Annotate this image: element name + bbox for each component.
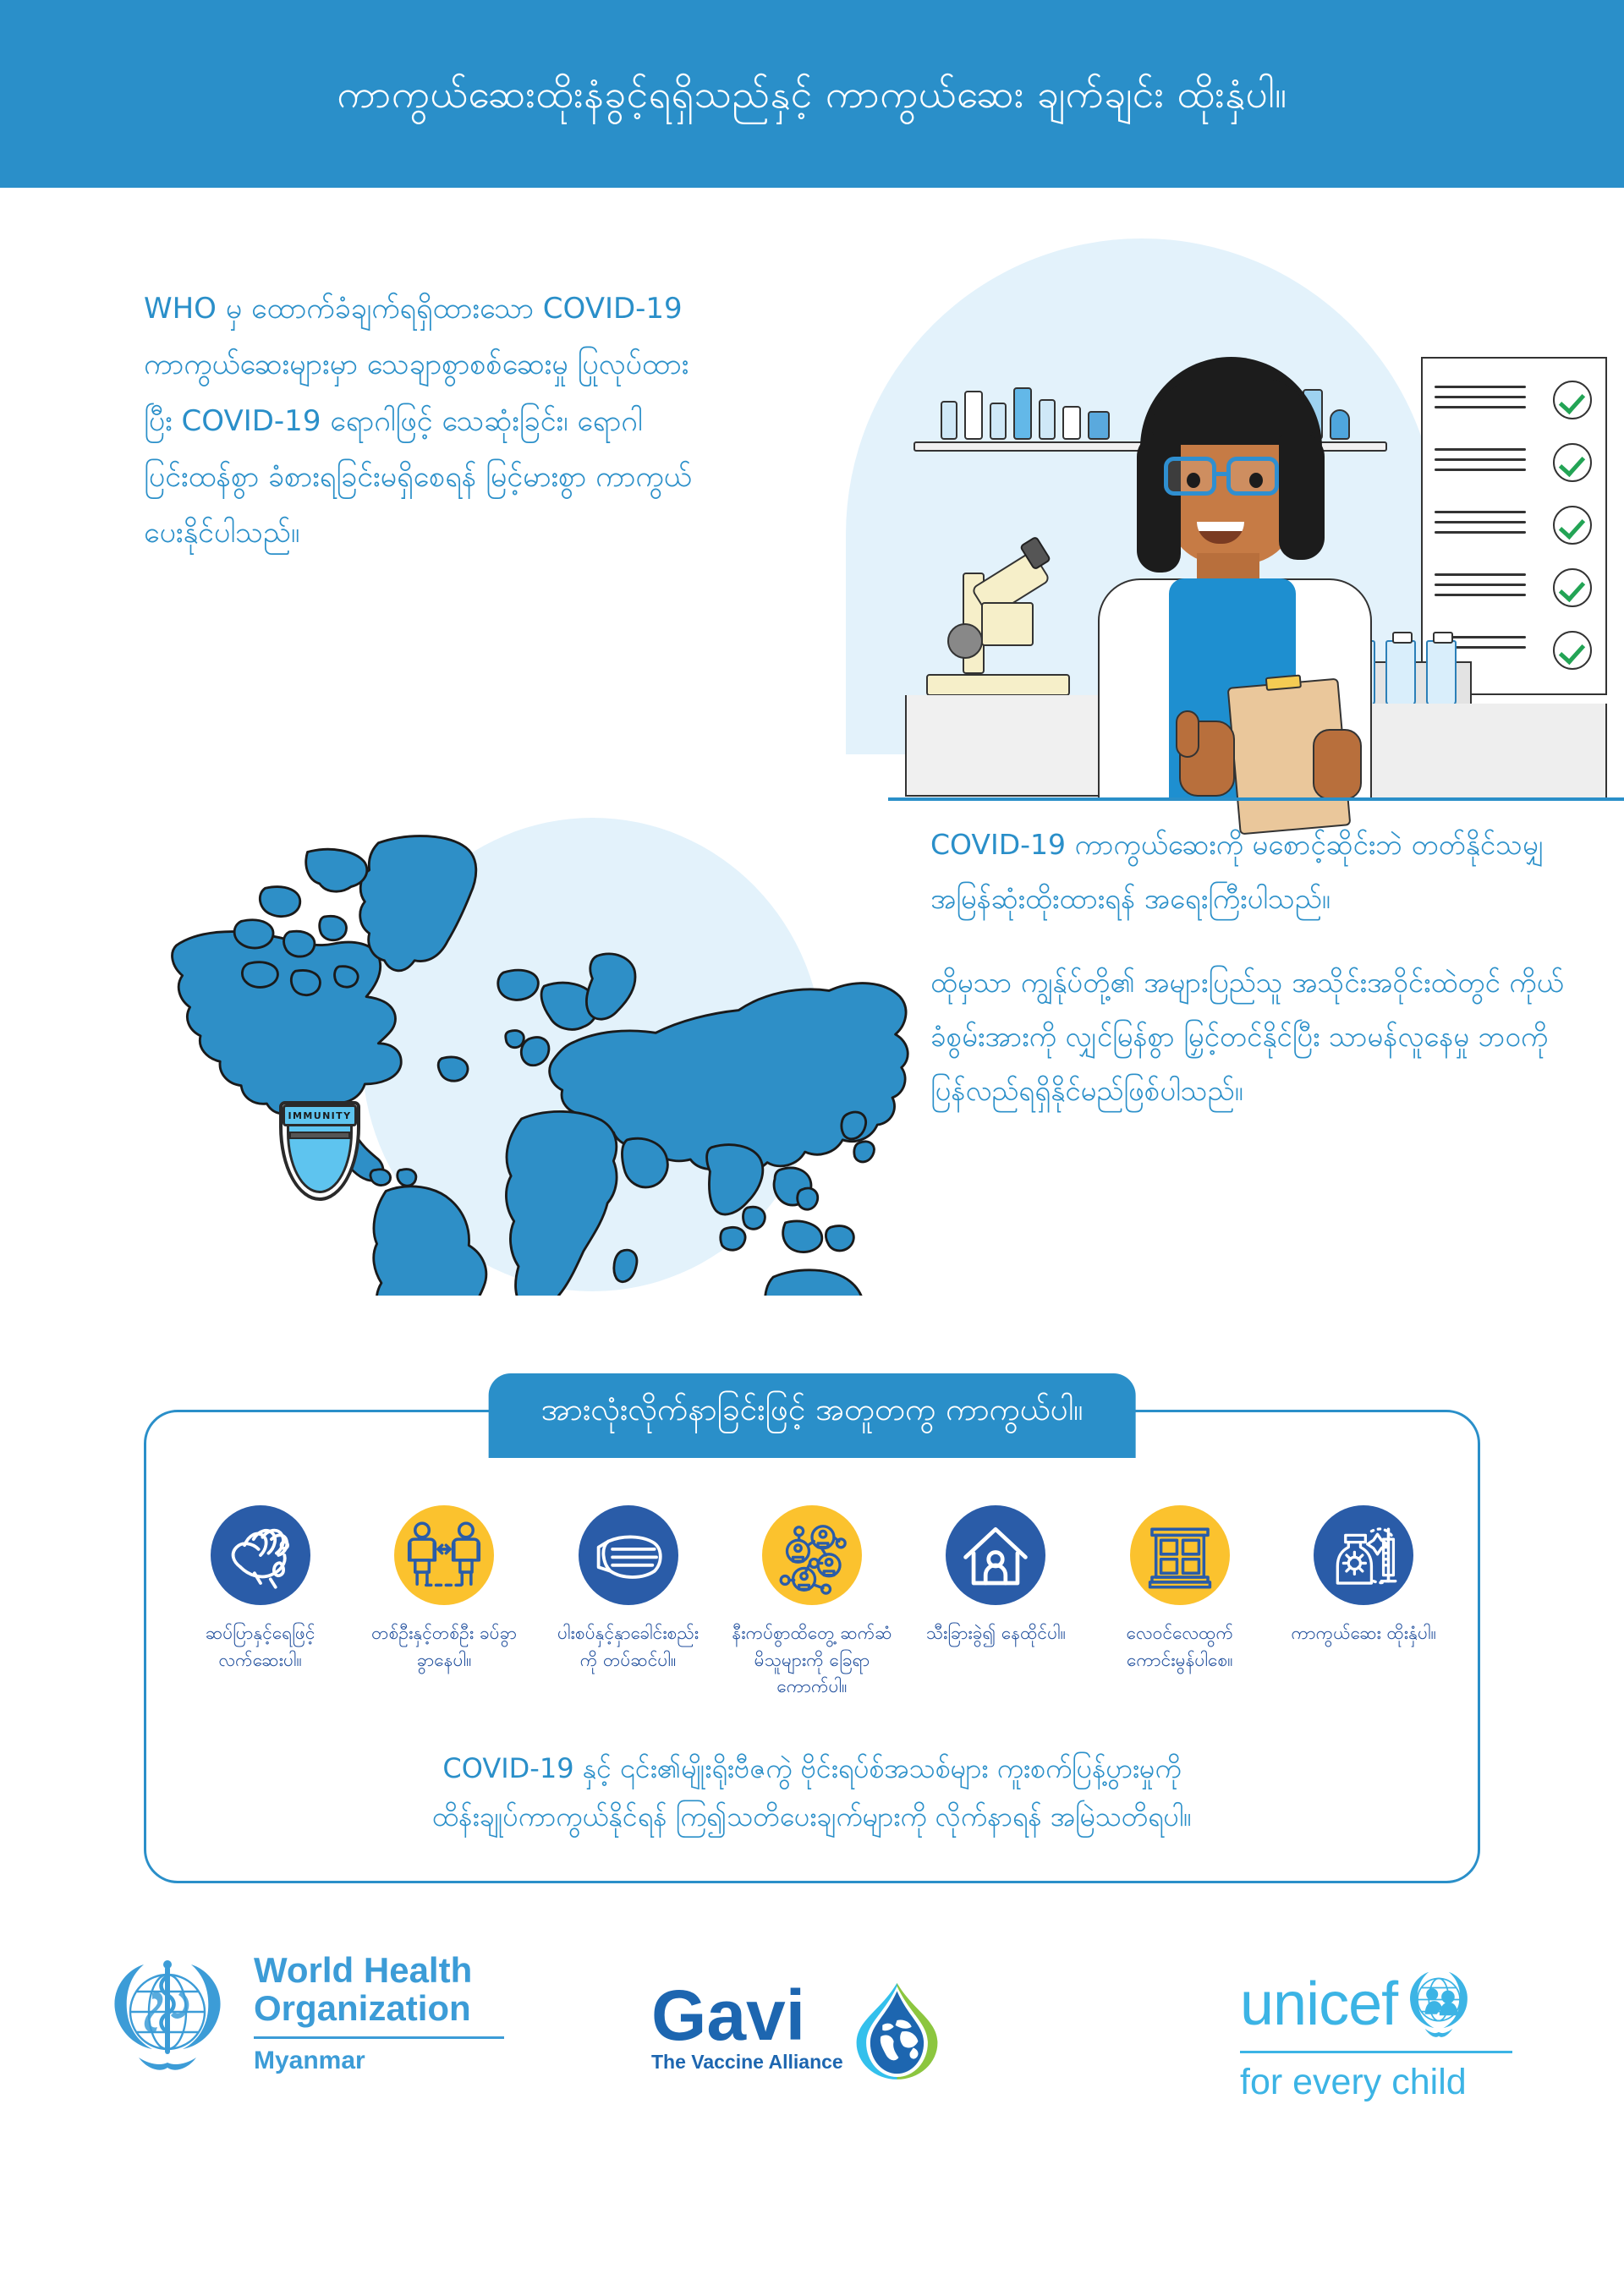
page-title: ကာကွယ်ဆေးထိုးနံခွင့်ရရှိသည်နှင့် ကာကွယ်ဆ… (337, 68, 1287, 120)
who-logo: World Health Organization Myanmar (100, 1951, 504, 2086)
who-emblem-icon (100, 1951, 235, 2086)
scientist-character (1091, 357, 1379, 801)
measure-item-handwashing[interactable]: ဆပ်ပြာနှင့်ရေဖြင့် လက်ဆေးပါ။ (180, 1505, 341, 1674)
unicef-divider (1240, 2051, 1512, 2053)
checklist-text-lines (1435, 448, 1526, 479)
measure-item-contact-tracing[interactable]: နီးကပ်စွာထိတွေ့ ဆက်ဆံမိသူများကို ခြေရာကေ… (732, 1505, 892, 1701)
who-divider (254, 2036, 504, 2039)
unicef-logo: unicef for every child (1240, 1968, 1512, 2103)
shelf-bottle-icon (941, 401, 957, 440)
measure-label: ဆပ်ပြာနှင့်ရေဖြင့် လက်ဆေးပါ။ (180, 1620, 341, 1674)
measure-label: တစ်ဦးနှင့်တစ်ဦး ခပ်ခွာခွာနေပါ။ (364, 1620, 524, 1674)
measures-footer-line-2: ထိန်းချုပ်ကာကွယ်နိုင်ရန် ကြ၍သတိပေးချက်မျ… (222, 1793, 1402, 1842)
who-country-label: Myanmar (254, 2047, 504, 2075)
hair-left (1137, 433, 1181, 573)
face-mask-icon (579, 1505, 678, 1605)
microscope-base (926, 674, 1070, 696)
check-mark-icon (1553, 631, 1592, 670)
stay-home-icon (946, 1505, 1045, 1605)
handwashing-icon (211, 1505, 310, 1605)
shelf-bottle-icon (1013, 387, 1032, 440)
vaccine-syringe-icon (1314, 1505, 1413, 1605)
check-mark-icon (1553, 381, 1592, 419)
thumbs-up-icon (1176, 710, 1199, 758)
check-mark-icon (1553, 443, 1592, 482)
who-name-line-1: World Health (254, 1951, 504, 1989)
gavi-logo: Gavi The Vaccine Alliance (651, 1978, 946, 2080)
who-name-line-2: Organization (254, 1989, 504, 2027)
checklist-text-lines (1435, 511, 1526, 541)
measures-ribbon-title: အားလုံးလိုက်နာခြင်းဖြင့် အတူတကွ ကာကွယ်ပါ… (489, 1373, 1136, 1458)
microscope-lens (947, 623, 983, 659)
vaccine-vial-icon (1385, 640, 1416, 706)
gavi-tagline: The Vaccine Alliance (651, 2051, 843, 2074)
measure-label: သီးခြားခွဲ၍ နေထိုင်ပါ။ (915, 1620, 1076, 1647)
measure-item-vaccine[interactable]: ကာကွယ်ဆေး ထိုးနှံပါ။ (1283, 1505, 1444, 1647)
vaccinate-paragraph-1: COVID-19 ကာကွယ်ဆေးကို မစောင့်ဆိုင်းဘဲ တတ… (930, 818, 1573, 927)
measures-icons-row: ဆပ်ပြာနှင့်ရေဖြင့် လက်ဆေးပါ။ (146, 1505, 1478, 1701)
social-distancing-icon (394, 1505, 494, 1605)
checklist-text-lines (1435, 573, 1526, 604)
check-mark-icon (1553, 506, 1592, 545)
unicef-tagline: for every child (1240, 2062, 1512, 2103)
ventilation-window-icon (1130, 1505, 1230, 1605)
who-paragraph: WHO မှ ထောက်ခံချက်ရရှိထားသော COVID-19 ကာ… (144, 281, 710, 561)
measure-label: လေဝင်လေထွက် ကောင်းမွန်ပါစေ။ (1100, 1620, 1260, 1674)
world-map-illustration: IMMUNITY (152, 788, 913, 1312)
measures-footer-text: COVID-19 နှင့် ၎င်း၏မျိုးရိုးဗီဇကွဲ ဗိုင… (146, 1745, 1478, 1842)
measures-panel: အားလုံးလိုက်နာခြင်းဖြင့် အတူတကွ ကာကွယ်ပါ… (144, 1410, 1480, 1883)
shelf-bottle-icon (1062, 406, 1081, 440)
scientist-lab-illustration (744, 188, 1624, 801)
measure-item-ventilation[interactable]: လေဝင်လေထွက် ကောင်းမွန်ပါစေ။ (1100, 1505, 1260, 1674)
section-who-approved: WHO မှ ထောက်ခံချက်ရရှိထားသော COVID-19 ကာ… (0, 188, 1624, 801)
shelf-bottle-icon (964, 391, 983, 440)
measure-label: ပါးစပ်နှင့်နှာခေါင်းစည်း ကို တပ်ဆင်ပါ။ (548, 1620, 709, 1674)
measure-item-social-distancing[interactable]: တစ်ဦးနှင့်တစ်ဦး ခပ်ခွာခွာနေပါ။ (364, 1505, 524, 1674)
unicef-emblem-icon (1402, 1968, 1475, 2041)
immunity-shield-icon: IMMUNITY (279, 1101, 360, 1201)
page-header: ကာကွယ်ဆေးထိုးနံခွင့်ရရှိသည်နှင့် ကာကွယ်ဆ… (0, 0, 1624, 188)
vaccinate-paragraph-2: ထိုမှသာ ကျွန်ုပ်တို့၏ အများပြည်သူ အသိုင်… (930, 956, 1573, 1119)
gavi-wordmark: Gavi (651, 1984, 843, 2048)
section-preventive-measures: အားလုံးလိုက်နာခြင်းဖြင့် အတူတကွ ကာကွယ်ပါ… (0, 1359, 1624, 1926)
measure-label: နီးကပ်စွာထိတွေ့ ဆက်ဆံမိသူများကို ခြေရာကေ… (732, 1620, 892, 1701)
contact-tracing-icon (762, 1505, 862, 1605)
vaccinate-text-block: COVID-19 ကာကွယ်ဆေးကို မစောင့်ဆိုင်းဘဲ တတ… (930, 818, 1573, 1148)
right-hand (1313, 729, 1362, 800)
shelf-bottle-icon (1039, 399, 1056, 440)
section-get-vaccinated: IMMUNITY COVID-19 ကာကွယ်ဆေးကို မစောင့်ဆိ… (0, 801, 1624, 1359)
microscope-body (981, 602, 1034, 646)
lab-bench-left (905, 695, 1100, 797)
eyeglasses-icon (1164, 457, 1299, 496)
check-mark-icon (1553, 568, 1592, 607)
gavi-globe-drop-icon (848, 1978, 946, 2080)
measure-item-face-mask[interactable]: ပါးစပ်နှင့်နှာခေါင်းစည်း ကို တပ်ဆင်ပါ။ (548, 1505, 709, 1674)
measures-footer-line-1: COVID-19 နှင့် ၎င်း၏မျိုးရိုးဗီဇကွဲ ဗိုင… (222, 1745, 1402, 1794)
world-map-svg (152, 788, 913, 1296)
measure-item-stay-home[interactable]: သီးခြားခွဲ၍ နေထိုင်ပါ။ (915, 1505, 1076, 1647)
hair-right (1279, 433, 1325, 560)
unicef-wordmark: unicef (1240, 1974, 1397, 2035)
partner-logos: World Health Organization Myanmar Gavi T… (0, 1926, 1624, 2213)
shelf-bottle-icon (990, 403, 1007, 440)
vaccine-vial-icon (1426, 640, 1457, 706)
who-text-block: WHO မှ ထောက်ခံချက်ရရှိထားသော COVID-19 ကာ… (0, 188, 744, 801)
shield-label: IMMUNITY (288, 1110, 352, 1121)
measure-label: ကာကွယ်ဆေး ထိုးနှံပါ။ (1283, 1620, 1444, 1647)
checklist-text-lines (1435, 386, 1526, 416)
